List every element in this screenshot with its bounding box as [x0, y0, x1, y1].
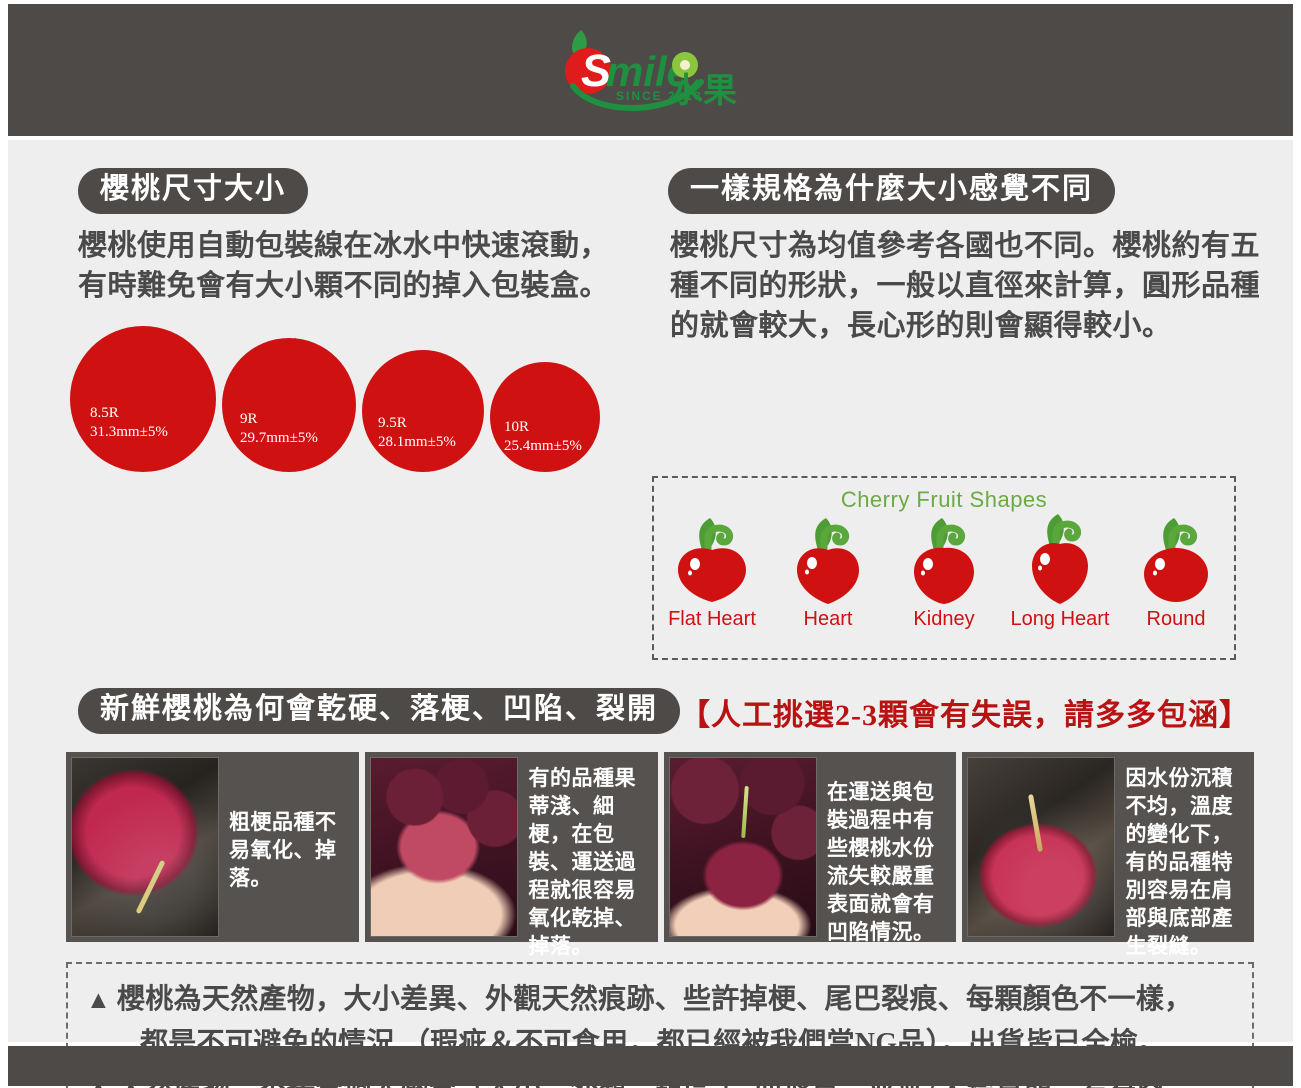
section-cherry-shapes: 一樣規格為什麼大小感覺不同 櫻桃尺寸為均值參考各國也不同。櫻桃約有五種不同的形狀…	[660, 168, 1260, 346]
section-defects-heading-wrap: 新鮮櫻桃為何會乾硬、落梗、凹陷、裂開	[78, 688, 680, 734]
shape-label: Kidney	[892, 608, 996, 631]
page-header: S mile SINCE 2013 水果	[8, 4, 1293, 136]
size-code: 10R	[504, 419, 529, 435]
defect-card: 因水份沉積不均，溫度的變化下，有的品種特別容易在肩部與底部產生裂縫。	[962, 752, 1254, 942]
section-defects-heading: 新鮮櫻桃為何會乾硬、落梗、凹陷、裂開	[78, 688, 680, 734]
cherry-shapes-grid: Flat Heart Heart	[654, 512, 1234, 631]
cherry-flat-heart-icon	[666, 516, 758, 606]
section-cherry-shapes-heading: 一樣規格為什麼大小感覺不同	[668, 168, 1115, 214]
section-cherry-size-paragraph: 櫻桃使用自動包裝線在冰水中快速滾動，有時難免會有大小顆不同的掉入包裝盒。	[78, 226, 630, 306]
brand-logo: S mile SINCE 2013 水果	[551, 24, 751, 116]
infographic-page: S mile SINCE 2013 水果 櫻桃尺寸大小 櫻桃使用自動包裝線在冰水…	[0, 0, 1301, 1088]
section-defects-note: 【人工挑選2-3顆會有失誤，請多多包涵】	[680, 690, 1250, 734]
defect-photo	[669, 757, 817, 937]
defect-caption: 因水份沉積不均，溫度的變化下，有的品種特別容易在肩部與底部產生裂縫。	[1115, 757, 1249, 937]
shape-label: Long Heart	[1008, 608, 1112, 631]
defect-card: 有的品種果蒂淺、細梗，在包裝、運送過程就很容易氧化乾掉、掉落。	[365, 752, 658, 942]
size-mm: 29.7mm±5%	[240, 430, 318, 446]
section-cherry-size-heading: 櫻桃尺寸大小	[78, 168, 308, 214]
disclaimer-text: 櫻桃為天然產物，大小差異、外觀天然痕跡、些許掉梗、尾巴裂痕、每顆顏色不一樣，	[117, 984, 1192, 1015]
defect-caption: 有的品種果蒂淺、細梗，在包裝、運送過程就很容易氧化乾掉、掉落。	[518, 757, 653, 937]
defect-caption: 粗梗品種不易氧化、掉落。	[219, 757, 354, 937]
cherry-shapes-box: Cherry Fruit Shapes Flat Heart	[652, 476, 1236, 660]
bullet-triangle-icon: ▲	[86, 987, 111, 1014]
shape-label: Heart	[776, 608, 880, 631]
shape-label: Round	[1124, 608, 1228, 631]
defect-caption: 在運送與包裝過程中有些櫻桃水份流失較嚴重表面就會有凹陷情況。	[817, 757, 952, 937]
cherry-shapes-title: Cherry Fruit Shapes	[654, 487, 1234, 513]
shape-label: Flat Heart	[660, 608, 764, 631]
cherry-kidney-icon	[898, 516, 990, 606]
shape-kidney: Kidney	[892, 516, 996, 631]
shape-heart: Heart	[776, 516, 880, 631]
defect-photo	[71, 757, 219, 937]
section-cherry-shapes-paragraph: 櫻桃尺寸為均值參考各國也不同。櫻桃約有五種不同的形狀，一般以直徑來計算，圓形品種…	[670, 226, 1260, 346]
cherry-size-item: 9.5R 28.1mm±5%	[362, 350, 484, 472]
defect-card: 粗梗品種不易氧化、掉落。	[66, 752, 359, 942]
shape-long-heart: Long Heart	[1008, 512, 1112, 631]
defect-card: 在運送與包裝過程中有些櫻桃水份流失較嚴重表面就會有凹陷情況。	[664, 752, 957, 942]
size-mm: 28.1mm±5%	[378, 434, 456, 450]
size-code: 8.5R	[90, 405, 119, 421]
disclaimer-line-1: ▲櫻桃為天然產物，大小差異、外觀天然痕跡、些許掉梗、尾巴裂痕、每顆顏色不一樣，	[86, 980, 1236, 1020]
cherry-size-item: 8.5R 31.3mm±5%	[70, 326, 216, 472]
size-code: 9R	[240, 411, 258, 427]
svg-text:水果: 水果	[669, 72, 737, 110]
shape-round: Round	[1124, 516, 1228, 631]
cherry-size-item: 9R 29.7mm±5%	[222, 338, 356, 472]
defect-photo	[370, 757, 518, 937]
size-code: 9.5R	[378, 415, 407, 431]
shape-flat-heart: Flat Heart	[660, 516, 764, 631]
defect-photo	[967, 757, 1115, 937]
logo-graphic: S mile SINCE 2013 水果	[551, 24, 751, 116]
cherry-size-item: 10R 25.4mm±5%	[490, 362, 600, 472]
size-mm: 31.3mm±5%	[90, 424, 168, 440]
cherry-heart-icon	[782, 516, 874, 606]
page-footer	[8, 1046, 1293, 1086]
cherry-long-heart-icon	[1014, 512, 1106, 606]
defect-card-list: 粗梗品種不易氧化、掉落。 有的品種果蒂淺、細梗，在包裝、運送過程就很容易氧化乾掉…	[66, 752, 1254, 942]
cherry-round-icon	[1130, 516, 1222, 606]
main-panel: 櫻桃尺寸大小 櫻桃使用自動包裝線在冰水中快速滾動，有時難免會有大小顆不同的掉入包…	[8, 140, 1293, 1042]
section-cherry-size: 櫻桃尺寸大小 櫻桃使用自動包裝線在冰水中快速滾動，有時難免會有大小顆不同的掉入包…	[70, 168, 630, 472]
size-mm: 25.4mm±5%	[504, 438, 582, 454]
cherry-size-row: 8.5R 31.3mm±5% 9R 29.7	[70, 332, 630, 472]
